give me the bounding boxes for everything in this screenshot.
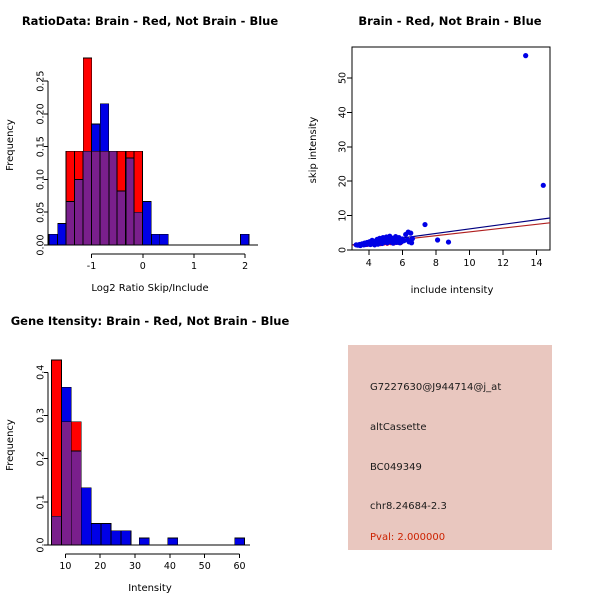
histogram-bar xyxy=(61,387,71,422)
x-tick-label: 40 xyxy=(164,561,176,572)
histogram-bar xyxy=(75,151,84,179)
gene-pval: Pval: 2.000000 xyxy=(370,532,445,543)
histogram-bar xyxy=(168,538,178,545)
scatter-point xyxy=(410,236,415,241)
gene-histogram-title: Gene Itensity: Brain - Red, Not Brain - … xyxy=(11,314,290,328)
x-tick-label: 2 xyxy=(242,261,248,272)
histogram-bar xyxy=(241,234,250,245)
histogram-bar xyxy=(117,191,126,245)
histogram-bar xyxy=(139,538,149,545)
scatter-point xyxy=(408,231,413,236)
x-tick-label: 0 xyxy=(140,261,146,272)
intensity-scatter-xlabel: include intensity xyxy=(411,285,494,296)
histogram-bar xyxy=(61,422,71,545)
x-tick-label: 6 xyxy=(399,258,405,269)
panel-gene-info: G7227630@J944714@j_at altCassette BC0493… xyxy=(300,300,600,600)
panel-intensity-scatter: Brain - Red, Not Brain - Blue 0102030405… xyxy=(300,0,600,300)
scatter-point xyxy=(541,183,546,188)
histogram-bar xyxy=(109,151,118,245)
y-tick-label: 0.00 xyxy=(36,234,47,255)
scatter-points-group xyxy=(352,53,550,248)
scatter-point xyxy=(523,53,528,58)
histogram-bar xyxy=(92,151,101,245)
histogram-bar xyxy=(126,151,135,158)
y-tick-label: 10 xyxy=(338,210,349,222)
ratio-histogram-xlabel: Log2 Ratio Skip/Include xyxy=(91,283,208,294)
x-tick-label: 12 xyxy=(497,258,509,269)
x-tick-label: 1 xyxy=(191,261,197,272)
histogram-bar xyxy=(134,151,143,212)
y-tick-label: 20 xyxy=(338,175,349,187)
gene-probe-id: G7227630@J944714@j_at xyxy=(370,382,501,393)
histogram-bar xyxy=(75,179,84,245)
ratio-histogram-title: RatioData: Brain - Red, Not Brain - Blue xyxy=(22,14,279,28)
scatter-point xyxy=(422,222,427,227)
intensity-scatter-title: Brain - Red, Not Brain - Blue xyxy=(358,14,541,28)
histogram-bar xyxy=(71,422,81,451)
ratio-histogram-svg: RatioData: Brain - Red, Not Brain - Blue… xyxy=(0,0,300,300)
intensity-scatter-svg: Brain - Red, Not Brain - Blue 0102030405… xyxy=(300,0,600,300)
x-tick-label: 30 xyxy=(129,561,141,572)
histogram-bar xyxy=(121,531,131,545)
gene-histogram-ylabel: Frequency xyxy=(5,419,16,471)
histogram-bar xyxy=(51,516,61,545)
gene-histogram-svg: Gene Itensity: Brain - Red, Not Brain - … xyxy=(0,300,300,600)
x-tick-label: 50 xyxy=(199,561,211,572)
histogram-bar xyxy=(51,360,61,516)
gene-locus: chr8.24684-2.3 xyxy=(370,501,447,512)
y-tick-label: 0.3 xyxy=(36,408,47,423)
y-tick-label: 40 xyxy=(338,106,349,118)
gene-accession: BC049349 xyxy=(370,462,422,473)
y-tick-label: 0.05 xyxy=(36,202,47,223)
histogram-bar xyxy=(126,158,135,245)
intensity-scatter-plot-area: 01020304050468101214 xyxy=(338,47,551,269)
histogram-bar xyxy=(71,451,81,545)
scatter-point xyxy=(446,239,451,244)
y-tick-label: 0.20 xyxy=(36,103,47,124)
x-tick-label: 20 xyxy=(94,561,106,572)
histogram-bar xyxy=(92,124,101,151)
x-tick-label: 60 xyxy=(234,561,246,572)
histogram-bar xyxy=(58,223,67,245)
y-tick-label: 0.4 xyxy=(36,365,47,380)
gene-event-type: altCassette xyxy=(370,422,427,433)
y-tick-label: 50 xyxy=(338,72,349,84)
panel-gene-histogram: Gene Itensity: Brain - Red, Not Brain - … xyxy=(0,300,300,600)
scatter-frame xyxy=(352,47,550,250)
histogram-bar xyxy=(160,234,169,245)
histogram-bar xyxy=(100,104,109,152)
histogram-bar xyxy=(91,523,101,545)
x-tick-label: 10 xyxy=(59,561,71,572)
x-tick-label: 14 xyxy=(531,258,543,269)
panel-ratio-histogram: RatioData: Brain - Red, Not Brain - Blue… xyxy=(0,0,300,300)
histogram-bar xyxy=(151,234,160,245)
histogram-bar xyxy=(235,538,245,545)
histogram-bar xyxy=(83,151,92,245)
y-tick-label: 0.15 xyxy=(36,136,47,157)
y-tick-label: 0.10 xyxy=(36,169,47,190)
x-tick-label: 10 xyxy=(463,258,475,269)
y-tick-label: 30 xyxy=(338,141,349,153)
histogram-bar xyxy=(100,151,109,245)
scatter-point xyxy=(435,237,440,242)
x-tick-label: 4 xyxy=(366,258,372,269)
gene-info-box: G7227630@J944714@j_at altCassette BC0493… xyxy=(348,345,552,550)
histogram-bar xyxy=(66,201,75,245)
y-tick-label: 0.1 xyxy=(36,494,47,509)
histogram-bar xyxy=(101,523,111,545)
gene-histogram-xlabel: Intensity xyxy=(128,583,172,594)
histogram-bar xyxy=(81,488,91,545)
histogram-bar xyxy=(134,212,143,245)
gene-histogram-plot-area: 0.00.10.20.30.4102030405060 xyxy=(36,360,251,572)
ratio-histogram-ylabel: Frequency xyxy=(5,119,16,171)
histogram-bar xyxy=(66,151,75,201)
histogram-bar xyxy=(117,151,126,191)
intensity-scatter-ylabel: skip intensity xyxy=(308,117,319,184)
histogram-bar xyxy=(49,234,58,245)
x-tick-label: 8 xyxy=(433,258,439,269)
y-tick-label: 0.25 xyxy=(36,71,47,92)
plot-grid: RatioData: Brain - Red, Not Brain - Blue… xyxy=(0,0,600,600)
histogram-bar xyxy=(111,531,121,545)
y-tick-label: 0.2 xyxy=(36,451,47,466)
x-tick-label: -1 xyxy=(87,261,96,272)
y-tick-label: 0 xyxy=(338,247,349,253)
ratio-histogram-plot-area: 0.000.050.100.150.200.25-1012 xyxy=(36,58,259,272)
y-tick-label: 0.0 xyxy=(36,537,47,552)
histogram-bar xyxy=(83,58,92,151)
histogram-bar xyxy=(143,201,152,245)
